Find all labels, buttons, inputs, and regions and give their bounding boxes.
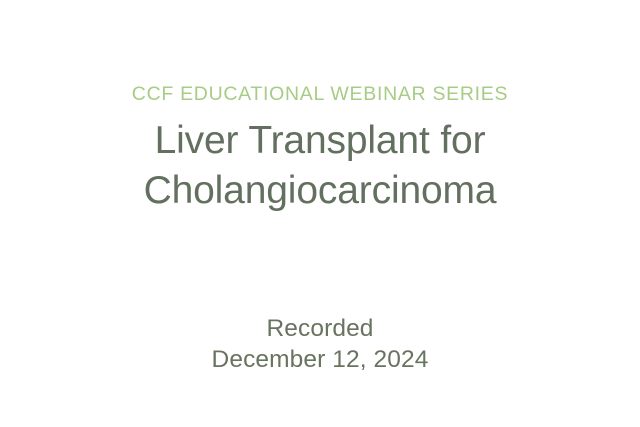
recorded-info: Recorded December 12, 2024 xyxy=(0,313,640,375)
title-line-1: Liver Transplant for xyxy=(0,116,640,166)
series-eyebrow: CCF EDUCATIONAL WEBINAR SERIES xyxy=(132,84,508,104)
recorded-label: Recorded xyxy=(0,313,640,344)
title-slide: CCF EDUCATIONAL WEBINAR SERIES Liver Tra… xyxy=(0,0,640,427)
title-line-2: Cholangiocarcinoma xyxy=(0,166,640,216)
eyebrow-container: CCF EDUCATIONAL WEBINAR SERIES xyxy=(0,84,640,105)
recorded-date: December 12, 2024 xyxy=(0,344,640,375)
page-title: Liver Transplant for Cholangiocarcinoma xyxy=(0,116,640,216)
